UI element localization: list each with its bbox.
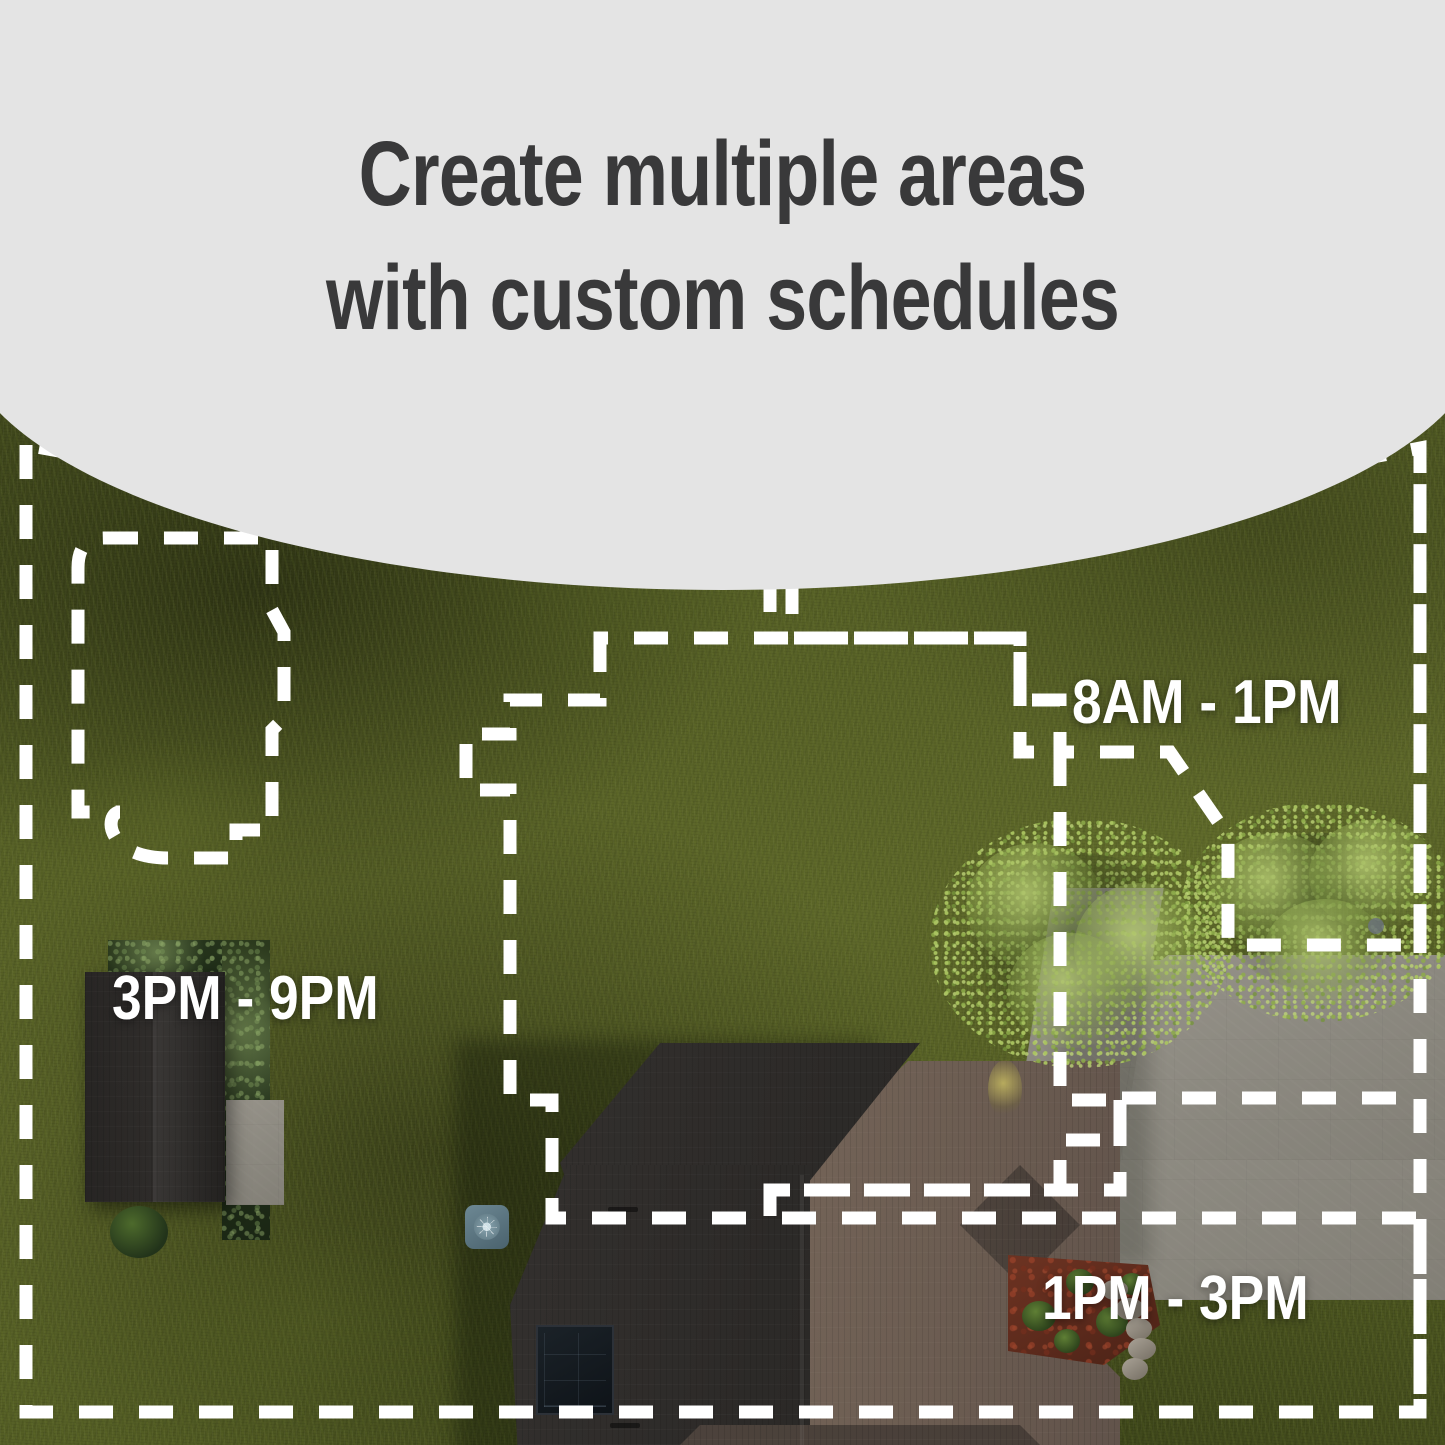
tree-ball-marker [1368,918,1384,934]
roof-ridge-main [800,1175,804,1445]
header: Create multiple areas with custom schedu… [0,0,1445,400]
garage-pad [226,1100,284,1205]
ac-condenser-unit [465,1205,509,1249]
ac-fan-icon [474,1214,500,1240]
conifer-tree-top-right-b [1180,802,1445,1022]
porch-window [536,1325,614,1415]
zone-label-afternoon: 3PM - 9PM [112,968,379,1030]
zone-label-midday: 1PM - 3PM [1042,1268,1309,1330]
zone-label-morning: 8AM - 1PM [1072,672,1342,734]
page-title: Create multiple areas with custom schedu… [145,112,1301,360]
roof-vent-1 [608,1207,638,1212]
garage-shrub [110,1206,168,1258]
ornamental-grass [988,1060,1022,1118]
promo-graphic: 8AM - 1PM 3PM - 9PM 1PM - 3PM Create mul… [0,0,1445,1445]
roof-vent-2 [610,1423,640,1428]
